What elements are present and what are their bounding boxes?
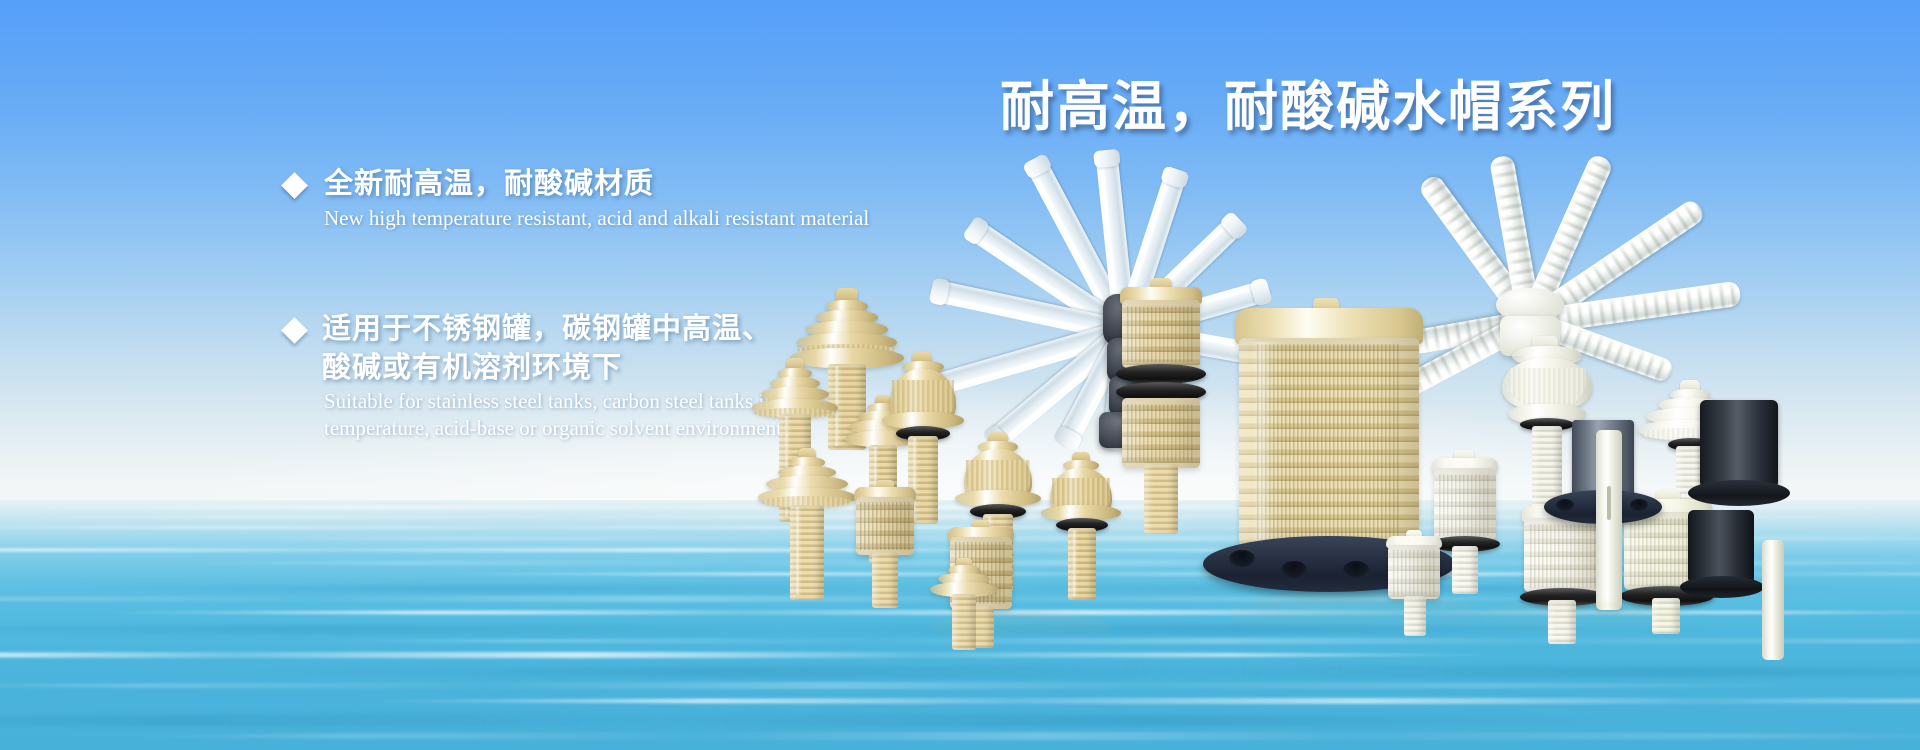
product-group	[0, 0, 1920, 750]
banner-stage: 耐高温，耐酸碱水帽系列 全新耐高温，耐酸碱材质 New high tempera…	[0, 0, 1920, 750]
